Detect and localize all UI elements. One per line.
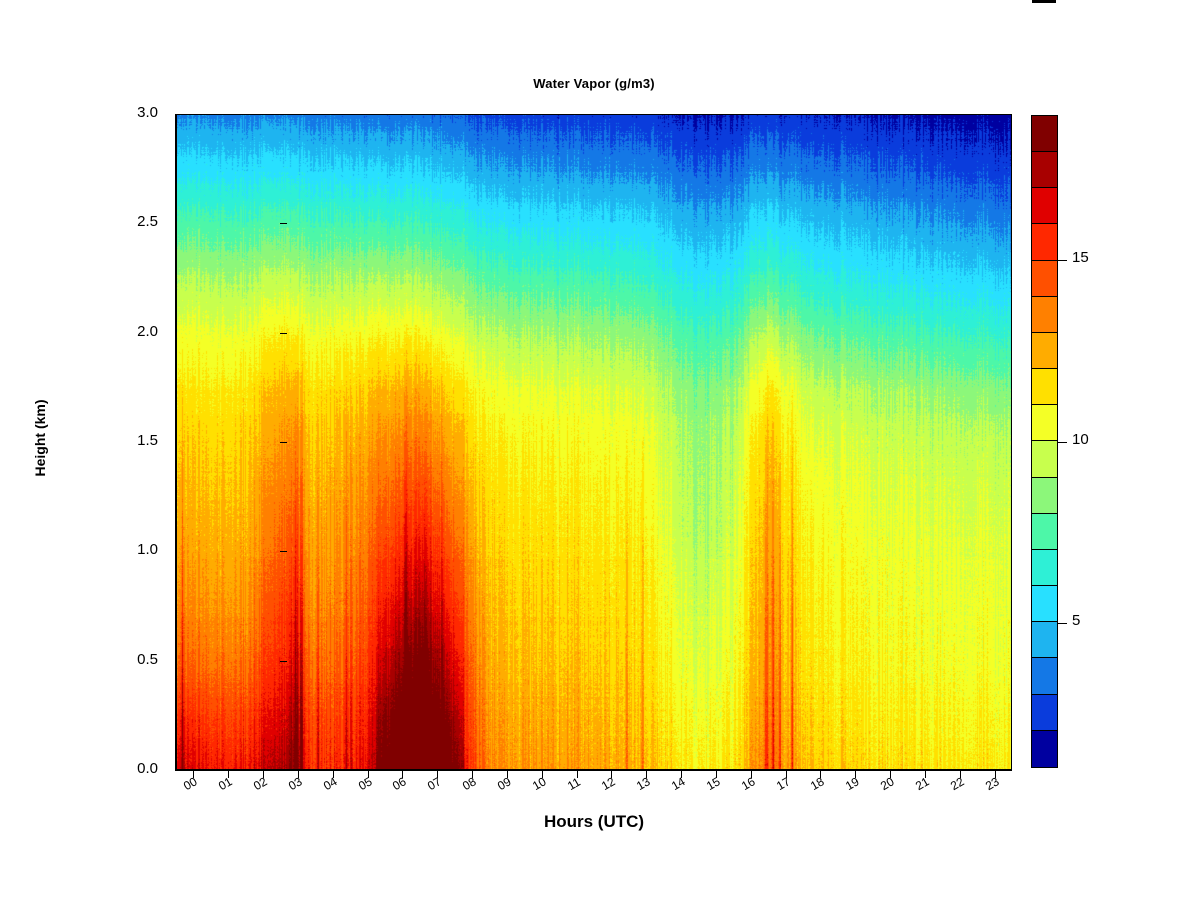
- colorbar-band: [1032, 731, 1057, 767]
- colorbar-band: [1032, 261, 1057, 297]
- colorbar-band: [1032, 586, 1057, 622]
- x-tick-label: 01: [216, 774, 235, 793]
- colorbar: [1031, 115, 1058, 768]
- colorbar-tick-label: 15: [1072, 249, 1089, 266]
- x-tick-label: 19: [843, 774, 862, 793]
- y-axis-ticks: 0.00.51.01.52.02.53.0: [112, 0, 176, 900]
- colorbar-band: [1032, 297, 1057, 333]
- x-tick-label: 10: [530, 774, 549, 793]
- x-tick-label: 00: [181, 774, 200, 793]
- colorbar-band: [1032, 369, 1057, 405]
- colorbar-band: [1032, 514, 1057, 550]
- heatmap-plot-area: [176, 114, 1012, 770]
- top-right-artifact: [1032, 0, 1056, 3]
- x-tick-label: 20: [878, 774, 897, 793]
- figure-canvas: Water Vapor (g/m3) 0.00.51.01.52.02.53.0…: [0, 0, 1200, 900]
- x-tick-label: 16: [739, 774, 758, 793]
- x-tick-label: 23: [983, 774, 1002, 793]
- colorbar-band: [1032, 622, 1057, 658]
- x-tick-label: 11: [565, 775, 583, 793]
- colorbar-band: [1032, 695, 1057, 731]
- colorbar-band: [1032, 478, 1057, 514]
- x-tick-label: 07: [425, 774, 444, 793]
- y-tick-mark: [280, 442, 287, 443]
- x-tick-label: 03: [286, 774, 305, 793]
- y-tick-mark: [280, 223, 287, 224]
- colorbar-band: [1032, 188, 1057, 224]
- colorbar-tick-mark: [1058, 442, 1067, 443]
- y-tick-mark: [280, 114, 287, 115]
- x-tick-label: 12: [599, 774, 618, 793]
- colorbar-band: [1032, 116, 1057, 152]
- colorbar-band: [1032, 441, 1057, 477]
- heatmap-canvas: [177, 115, 1012, 770]
- colorbar-band: [1032, 405, 1057, 441]
- x-tick-label: 13: [634, 774, 653, 793]
- y-tick-label: 0.5: [112, 651, 158, 668]
- x-tick-label: 06: [390, 774, 409, 793]
- chart-title: Water Vapor (g/m3): [176, 76, 1012, 91]
- x-tick-label: 15: [704, 774, 723, 793]
- x-axis-title: Hours (UTC): [176, 812, 1012, 832]
- y-axis-title: Height (km): [32, 358, 48, 518]
- colorbar-band: [1032, 152, 1057, 188]
- x-tick-label: 17: [774, 774, 793, 793]
- colorbar-tick-mark: [1058, 260, 1067, 261]
- y-tick-mark: [280, 551, 287, 552]
- x-tick-label: 04: [321, 774, 340, 793]
- colorbar-band: [1032, 658, 1057, 694]
- colorbar-tick-label: 5: [1072, 612, 1080, 629]
- colorbar-band: [1032, 224, 1057, 260]
- y-tick-mark: [280, 333, 287, 334]
- x-tick-label: 05: [356, 774, 375, 793]
- y-tick-label: 3.0: [112, 104, 158, 121]
- colorbar-band: [1032, 333, 1057, 369]
- x-tick-label: 22: [948, 774, 967, 793]
- y-tick-label: 1.5: [112, 432, 158, 449]
- y-tick-label: 0.0: [112, 760, 158, 777]
- y-tick-mark: [280, 661, 287, 662]
- y-tick-label: 2.5: [112, 213, 158, 230]
- x-tick-label: 09: [495, 774, 514, 793]
- x-tick-label: 21: [913, 774, 932, 793]
- colorbar-ticks: 15105: [1058, 0, 1178, 900]
- x-axis-line: [176, 770, 1012, 771]
- x-tick-label: 08: [460, 774, 479, 793]
- y-tick-label: 2.0: [112, 323, 158, 340]
- colorbar-band: [1032, 550, 1057, 586]
- x-tick-label: 14: [669, 774, 688, 793]
- x-tick-label: 02: [251, 774, 270, 793]
- y-tick-label: 1.0: [112, 541, 158, 558]
- colorbar-tick-mark: [1058, 623, 1067, 624]
- x-tick-label: 18: [808, 774, 827, 793]
- colorbar-tick-label: 10: [1072, 431, 1089, 448]
